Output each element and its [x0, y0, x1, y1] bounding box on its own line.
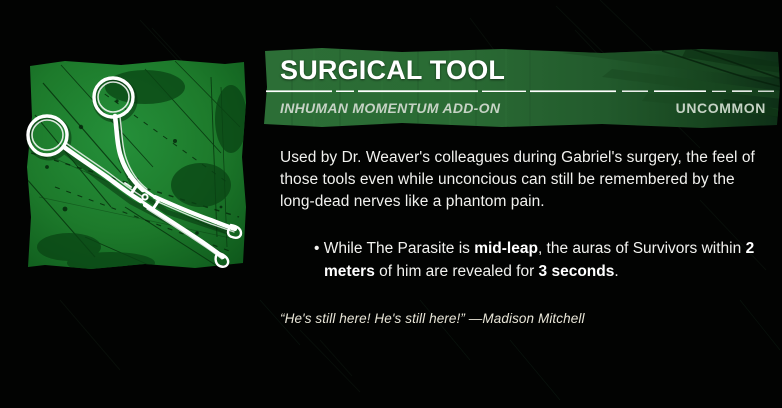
effect-highlight: mid-leap — [474, 240, 538, 257]
effect-text: While The Parasite is mid-leap, the aura… — [324, 240, 754, 280]
flavor-quote: “He's still here! He's still here!” —Mad… — [280, 310, 758, 328]
header-divider — [266, 90, 778, 93]
effect-list: • While The Parasite is mid-leap, the au… — [280, 237, 758, 283]
addon-icon-panel — [25, 57, 249, 273]
page-title: SURGICAL TOOL — [280, 54, 505, 86]
addon-body: Used by Dr. Weaver's colleagues during G… — [280, 147, 758, 328]
rarity-badge: UNCOMMON — [676, 100, 766, 116]
bullet-icon: • — [314, 240, 324, 257]
flavor-text: Used by Dr. Weaver's colleagues during G… — [280, 147, 758, 213]
addon-card: SURGICAL TOOL INHUMAN MOMENTUM ADD-ON UN… — [0, 0, 782, 408]
effect-list-item: • While The Parasite is mid-leap, the au… — [280, 237, 758, 283]
effect-segment: While The Parasite is — [324, 240, 474, 257]
effect-segment: . — [614, 263, 618, 280]
effect-segment: , the auras of Survivors within — [538, 240, 746, 257]
addon-header-banner: SURGICAL TOOL INHUMAN MOMENTUM ADD-ON UN… — [262, 47, 782, 129]
effect-segment: of him are revealed for — [375, 263, 539, 280]
surgical-forceps-icon — [25, 57, 249, 273]
addon-subtitle: INHUMAN MOMENTUM ADD-ON — [280, 100, 500, 116]
effect-highlight: 3 seconds — [539, 263, 615, 280]
